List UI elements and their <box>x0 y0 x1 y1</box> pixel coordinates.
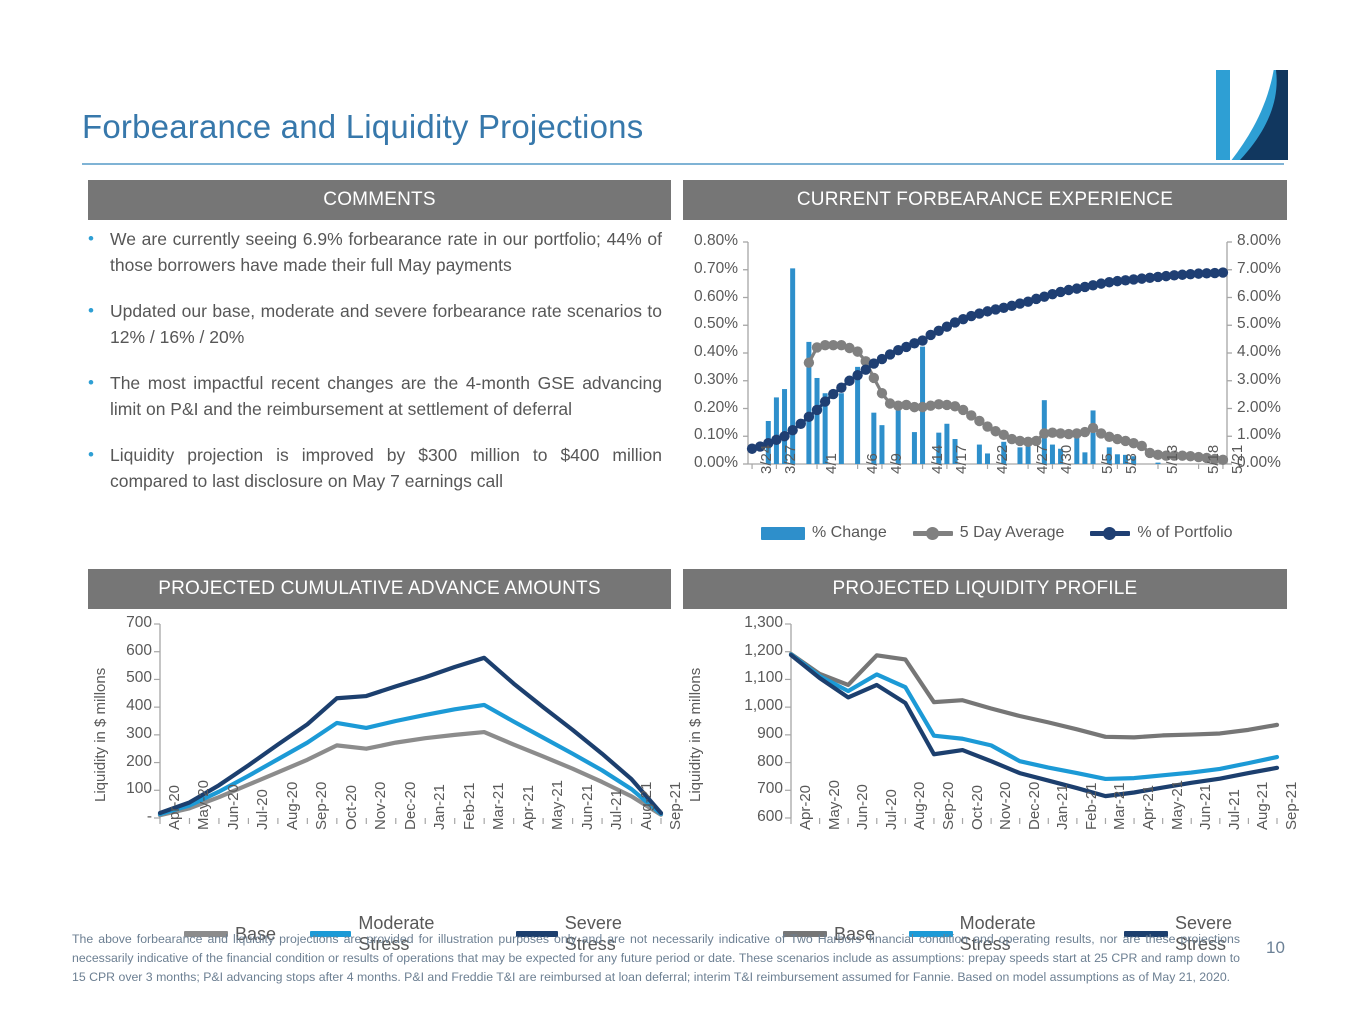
bullet-dot-icon: • <box>88 298 110 350</box>
data-point-marker <box>787 425 797 435</box>
x-axis-tick: 4/1 <box>823 453 840 474</box>
line-moderate-stress <box>791 654 1277 778</box>
y-axis-tick-left: 0.20% <box>683 399 738 417</box>
comment-bullet: •Updated our base, moderate and severe f… <box>88 298 668 350</box>
comment-text: We are currently seeing 6.9% forbearance… <box>110 226 662 278</box>
bullet-dot-icon: • <box>88 226 110 278</box>
x-axis-tick: May-20 <box>826 780 843 830</box>
y-axis-tick: 1,200 <box>701 642 783 660</box>
bullet-dot-icon: • <box>88 442 110 494</box>
bar-percent-change <box>1082 452 1087 464</box>
y-axis-tick-left: 0.50% <box>683 315 738 333</box>
data-point-marker <box>869 373 879 383</box>
data-point-marker <box>1218 267 1228 277</box>
x-axis-tick: Jul-21 <box>608 789 625 830</box>
x-axis-tick: Mar-21 <box>1111 782 1128 830</box>
data-point-marker <box>836 382 846 392</box>
bar-percent-change <box>977 445 982 464</box>
x-axis-tick: Aug-20 <box>911 782 928 830</box>
x-axis-tick: Dec-20 <box>1026 782 1043 830</box>
x-axis-tick: 4/27 <box>1034 445 1051 474</box>
data-point-marker <box>804 358 814 368</box>
x-axis-tick: Dec-20 <box>402 782 419 830</box>
legend-swatch <box>913 531 953 536</box>
legend-label: 5 Day Average <box>960 524 1065 542</box>
bar-percent-change <box>815 378 820 464</box>
y-axis-tick-right: 4.00% <box>1237 343 1281 361</box>
bar-percent-change <box>912 432 917 464</box>
x-axis-tick: Aug-20 <box>284 782 301 830</box>
y-axis-tick: 800 <box>701 753 783 771</box>
legend-swatch <box>761 527 805 540</box>
y-axis-tick: 700 <box>701 780 783 798</box>
x-axis-tick: 3/27 <box>782 445 799 474</box>
comments-list: •We are currently seeing 6.9% forbearanc… <box>88 226 668 514</box>
x-axis-tick: Feb-21 <box>461 782 478 830</box>
x-axis-tick: Apr-20 <box>797 785 814 830</box>
x-axis-tick: Oct-20 <box>969 785 986 830</box>
x-axis-tick: Jul-21 <box>1226 789 1243 830</box>
legend-item: 5 Day Average <box>913 524 1065 542</box>
x-axis-tick: 4/9 <box>888 453 905 474</box>
y-axis-tick-left: 0.60% <box>683 288 738 306</box>
x-axis-tick: Nov-20 <box>997 782 1014 830</box>
x-axis-tick: Sep-21 <box>1283 782 1300 830</box>
y-axis-tick: 300 <box>106 725 152 743</box>
x-axis-tick: Jan-21 <box>431 784 448 830</box>
y-axis-tick: 1,100 <box>701 669 783 687</box>
line-severe-stress <box>791 655 1277 796</box>
comment-bullet: •The most impactful recent changes are t… <box>88 370 668 422</box>
x-axis-tick: 4/6 <box>864 453 881 474</box>
y-axis-tick: 100 <box>106 780 152 798</box>
data-point-marker <box>852 346 862 356</box>
comment-text: Liquidity projection is improved by $300… <box>110 442 662 494</box>
comment-bullet: •We are currently seeing 6.9% forbearanc… <box>88 226 668 278</box>
data-point-marker <box>820 396 830 406</box>
comment-bullet: •Liquidity projection is improved by $30… <box>88 442 668 494</box>
y-axis-tick-left: 0.40% <box>683 343 738 361</box>
data-point-marker <box>804 412 814 422</box>
panel-header-liquidity: PROJECTED LIQUIDITY PROFILE <box>683 569 1287 609</box>
chart-projected-liquidity-profile: Liquidity in $ millons1,3001,2001,1001,0… <box>683 616 1287 944</box>
x-axis-tick: 5/8 <box>1123 453 1140 474</box>
y-axis-tick: 700 <box>106 614 152 632</box>
x-axis-tick: 5/18 <box>1205 445 1222 474</box>
page-title: Forbearance and Liquidity Projections <box>82 108 643 146</box>
legend-item: % of Portfolio <box>1090 524 1232 542</box>
x-axis-tick: Sep-20 <box>313 782 330 830</box>
y-axis-tick: 1,300 <box>701 614 783 632</box>
y-axis-tick: 900 <box>701 725 783 743</box>
legend-label: % of Portfolio <box>1137 524 1232 542</box>
y-axis-tick-left: 0.10% <box>683 426 738 444</box>
x-axis-tick: Jul-20 <box>883 789 900 830</box>
y-axis-tick-left: 0.80% <box>683 232 738 250</box>
x-axis-tick: Apr-21 <box>520 785 537 830</box>
x-axis-tick: Aug-21 <box>1254 782 1271 830</box>
data-point-marker <box>812 405 822 415</box>
x-axis-tick: Sep-20 <box>940 782 957 830</box>
page-number: 10 <box>1266 938 1285 958</box>
y-axis-tick: 600 <box>106 642 152 660</box>
y-axis-tick-right: 1.00% <box>1237 426 1281 444</box>
comment-text: Updated our base, moderate and severe fo… <box>110 298 662 350</box>
y-axis-tick-right: 6.00% <box>1237 288 1281 306</box>
legend-item: % Change <box>761 524 887 542</box>
data-point-marker <box>796 419 806 429</box>
x-axis-tick: 5/13 <box>1164 445 1181 474</box>
y-axis-tick: 500 <box>106 669 152 687</box>
y-axis-tick-left: 0.70% <box>683 260 738 278</box>
legend-forbearance: % Change5 Day Average% of Portfolio <box>761 524 1233 542</box>
x-axis-tick: 4/22 <box>994 445 1011 474</box>
legend-swatch <box>1090 531 1130 536</box>
x-axis-tick: Sep-21 <box>667 782 684 830</box>
x-axis-tick: 4/14 <box>929 445 946 474</box>
bar-percent-change <box>1155 463 1160 464</box>
line-base <box>791 654 1277 737</box>
x-axis-tick: Apr-20 <box>166 785 183 830</box>
panel-header-forbearance: CURRENT FORBEARANCE EXPERIENCE <box>683 180 1287 220</box>
y-axis-tick: 200 <box>106 753 152 771</box>
x-axis-tick: 4/30 <box>1058 445 1075 474</box>
x-axis-tick: May-21 <box>1169 780 1186 830</box>
y-axis-tick-right: 7.00% <box>1237 260 1281 278</box>
footnote-disclaimer: The above forbearance and liquidity proj… <box>72 930 1240 987</box>
x-axis-tick: 5/21 <box>1229 445 1246 474</box>
x-axis-tick: Apr-21 <box>1140 785 1157 830</box>
x-axis-tick: Nov-20 <box>372 782 389 830</box>
legend-label: % Change <box>812 524 887 542</box>
x-axis-tick: Jun-20 <box>225 784 242 830</box>
x-axis-tick: 5/5 <box>1099 453 1116 474</box>
bar-percent-change <box>1026 447 1031 464</box>
x-axis-tick: Jul-20 <box>254 789 271 830</box>
y-axis-tick: 1,000 <box>701 697 783 715</box>
bar-percent-change <box>1091 410 1096 464</box>
y-axis-tick-right: 5.00% <box>1237 315 1281 333</box>
x-axis-tick: Aug-21 <box>638 782 655 830</box>
panel-header-advance: PROJECTED CUMULATIVE ADVANCE AMOUNTS <box>88 569 671 609</box>
x-axis-tick: 3/24 <box>758 445 775 474</box>
bar-percent-change <box>855 367 860 464</box>
data-point-marker <box>828 389 838 399</box>
x-axis-tick: May-21 <box>549 780 566 830</box>
x-axis-tick: 4/17 <box>953 445 970 474</box>
forbearance-plot <box>683 232 1287 472</box>
bullet-dot-icon: • <box>88 370 110 422</box>
x-axis-tick: Jun-21 <box>1197 784 1214 830</box>
x-axis-tick: Mar-21 <box>490 782 507 830</box>
title-divider <box>82 163 1284 165</box>
x-axis-tick: Jun-21 <box>579 784 596 830</box>
chart-projected-cumulative-advance: Liquidity in $ millons700600500400300200… <box>88 616 671 944</box>
x-axis-tick: Feb-21 <box>1083 782 1100 830</box>
chart-current-forbearance-experience: 0.80%0.70%0.60%0.50%0.40%0.30%0.20%0.10%… <box>683 232 1287 552</box>
y-axis-tick-left: 0.30% <box>683 371 738 389</box>
x-axis-tick: May-20 <box>195 780 212 830</box>
y-axis-tick-left: 0.00% <box>683 454 738 472</box>
y-axis-tick: 400 <box>106 697 152 715</box>
y-axis-tick: - <box>106 808 152 826</box>
panel-header-comments: COMMENTS <box>88 180 671 220</box>
bar-percent-change <box>985 453 990 464</box>
data-point-marker <box>1137 441 1147 451</box>
x-axis-tick: Jun-20 <box>854 784 871 830</box>
y-axis-tick-right: 3.00% <box>1237 371 1281 389</box>
y-axis-tick-right: 2.00% <box>1237 399 1281 417</box>
y-axis-tick-right: 8.00% <box>1237 232 1281 250</box>
comment-text: The most impactful recent changes are th… <box>110 370 662 422</box>
bar-percent-change <box>1017 447 1022 464</box>
company-logo-icon <box>1216 70 1288 160</box>
data-point-marker <box>877 388 887 398</box>
x-axis-tick: Jan-21 <box>1054 784 1071 830</box>
y-axis-tick: 600 <box>701 808 783 826</box>
x-axis-tick: Oct-20 <box>343 785 360 830</box>
